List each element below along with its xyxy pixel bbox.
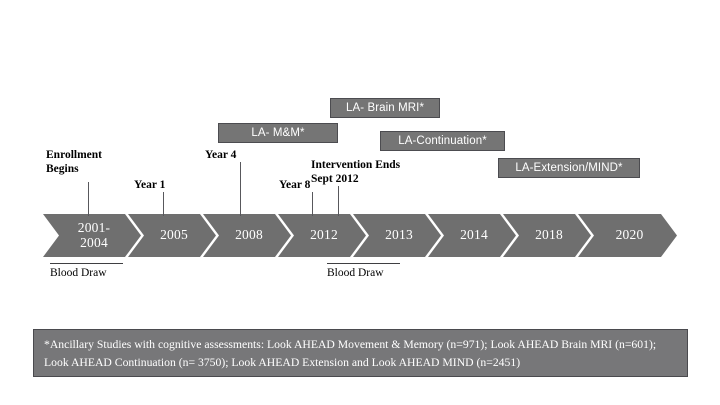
year-8-leader-line — [312, 192, 313, 216]
timeline-step: 2018 — [503, 214, 591, 257]
intervention-ends-label: Intervention Ends Sept 2012 — [311, 158, 400, 186]
la-continuation-box: LA-Continuation* — [380, 131, 505, 151]
timeline-step: 2013 — [353, 214, 441, 257]
la-mm-box: LA- M&M* — [218, 123, 338, 143]
blood-draw-left-rule — [50, 263, 123, 264]
timeline-step-label: 2018 — [535, 228, 563, 242]
la-brain-mri-label: LA- Brain MRI* — [346, 102, 424, 114]
timeline-figure: 2001- 20042005200820122013201420182020 E… — [0, 0, 720, 405]
timeline-track: 2001- 20042005200820122013201420182020 — [43, 214, 677, 257]
blood-draw-right-label: Blood Draw — [327, 267, 384, 279]
enrollment-begins-label: Enrollment Begins — [46, 148, 102, 176]
blood-draw-right-rule — [327, 263, 400, 264]
timeline-step: 2005 — [128, 214, 216, 257]
timeline-step-label: 2014 — [460, 228, 488, 242]
blood-draw-left-label: Blood Draw — [50, 267, 107, 279]
timeline-step-label: 2008 — [235, 228, 263, 242]
footnote-box: *Ancillary Studies with cognitive assess… — [33, 329, 688, 377]
enrollment-begins-leader-line — [88, 182, 89, 216]
year-4-label: Year 4 — [205, 148, 236, 162]
timeline-step-label: 2013 — [385, 228, 413, 242]
year-4-leader-line — [240, 162, 241, 216]
timeline-step: 2014 — [428, 214, 516, 257]
timeline-step: 2008 — [203, 214, 291, 257]
year-8-label: Year 8 — [279, 178, 310, 192]
timeline-step-label: 2020 — [616, 228, 644, 242]
year-1-label: Year 1 — [134, 178, 165, 192]
year-1-leader-line — [163, 192, 164, 216]
timeline-step-label: 2012 — [310, 228, 338, 242]
timeline-step: 2001- 2004 — [43, 214, 141, 257]
timeline-step: 2012 — [278, 214, 366, 257]
timeline-step-label: 2001- 2004 — [78, 221, 111, 249]
la-extension-mind-box: LA-Extension/MIND* — [498, 158, 640, 178]
timeline-step: 2020 — [578, 214, 677, 257]
intervention-ends-leader-line — [338, 186, 339, 216]
la-brain-mri-box: LA- Brain MRI* — [330, 98, 440, 118]
la-mm-label: LA- M&M* — [251, 127, 304, 139]
timeline-step-label: 2005 — [160, 228, 188, 242]
la-continuation-label: LA-Continuation* — [398, 135, 487, 147]
la-extension-mind-label: LA-Extension/MIND* — [515, 162, 622, 174]
footnote-text: *Ancillary Studies with cognitive assess… — [44, 338, 656, 369]
